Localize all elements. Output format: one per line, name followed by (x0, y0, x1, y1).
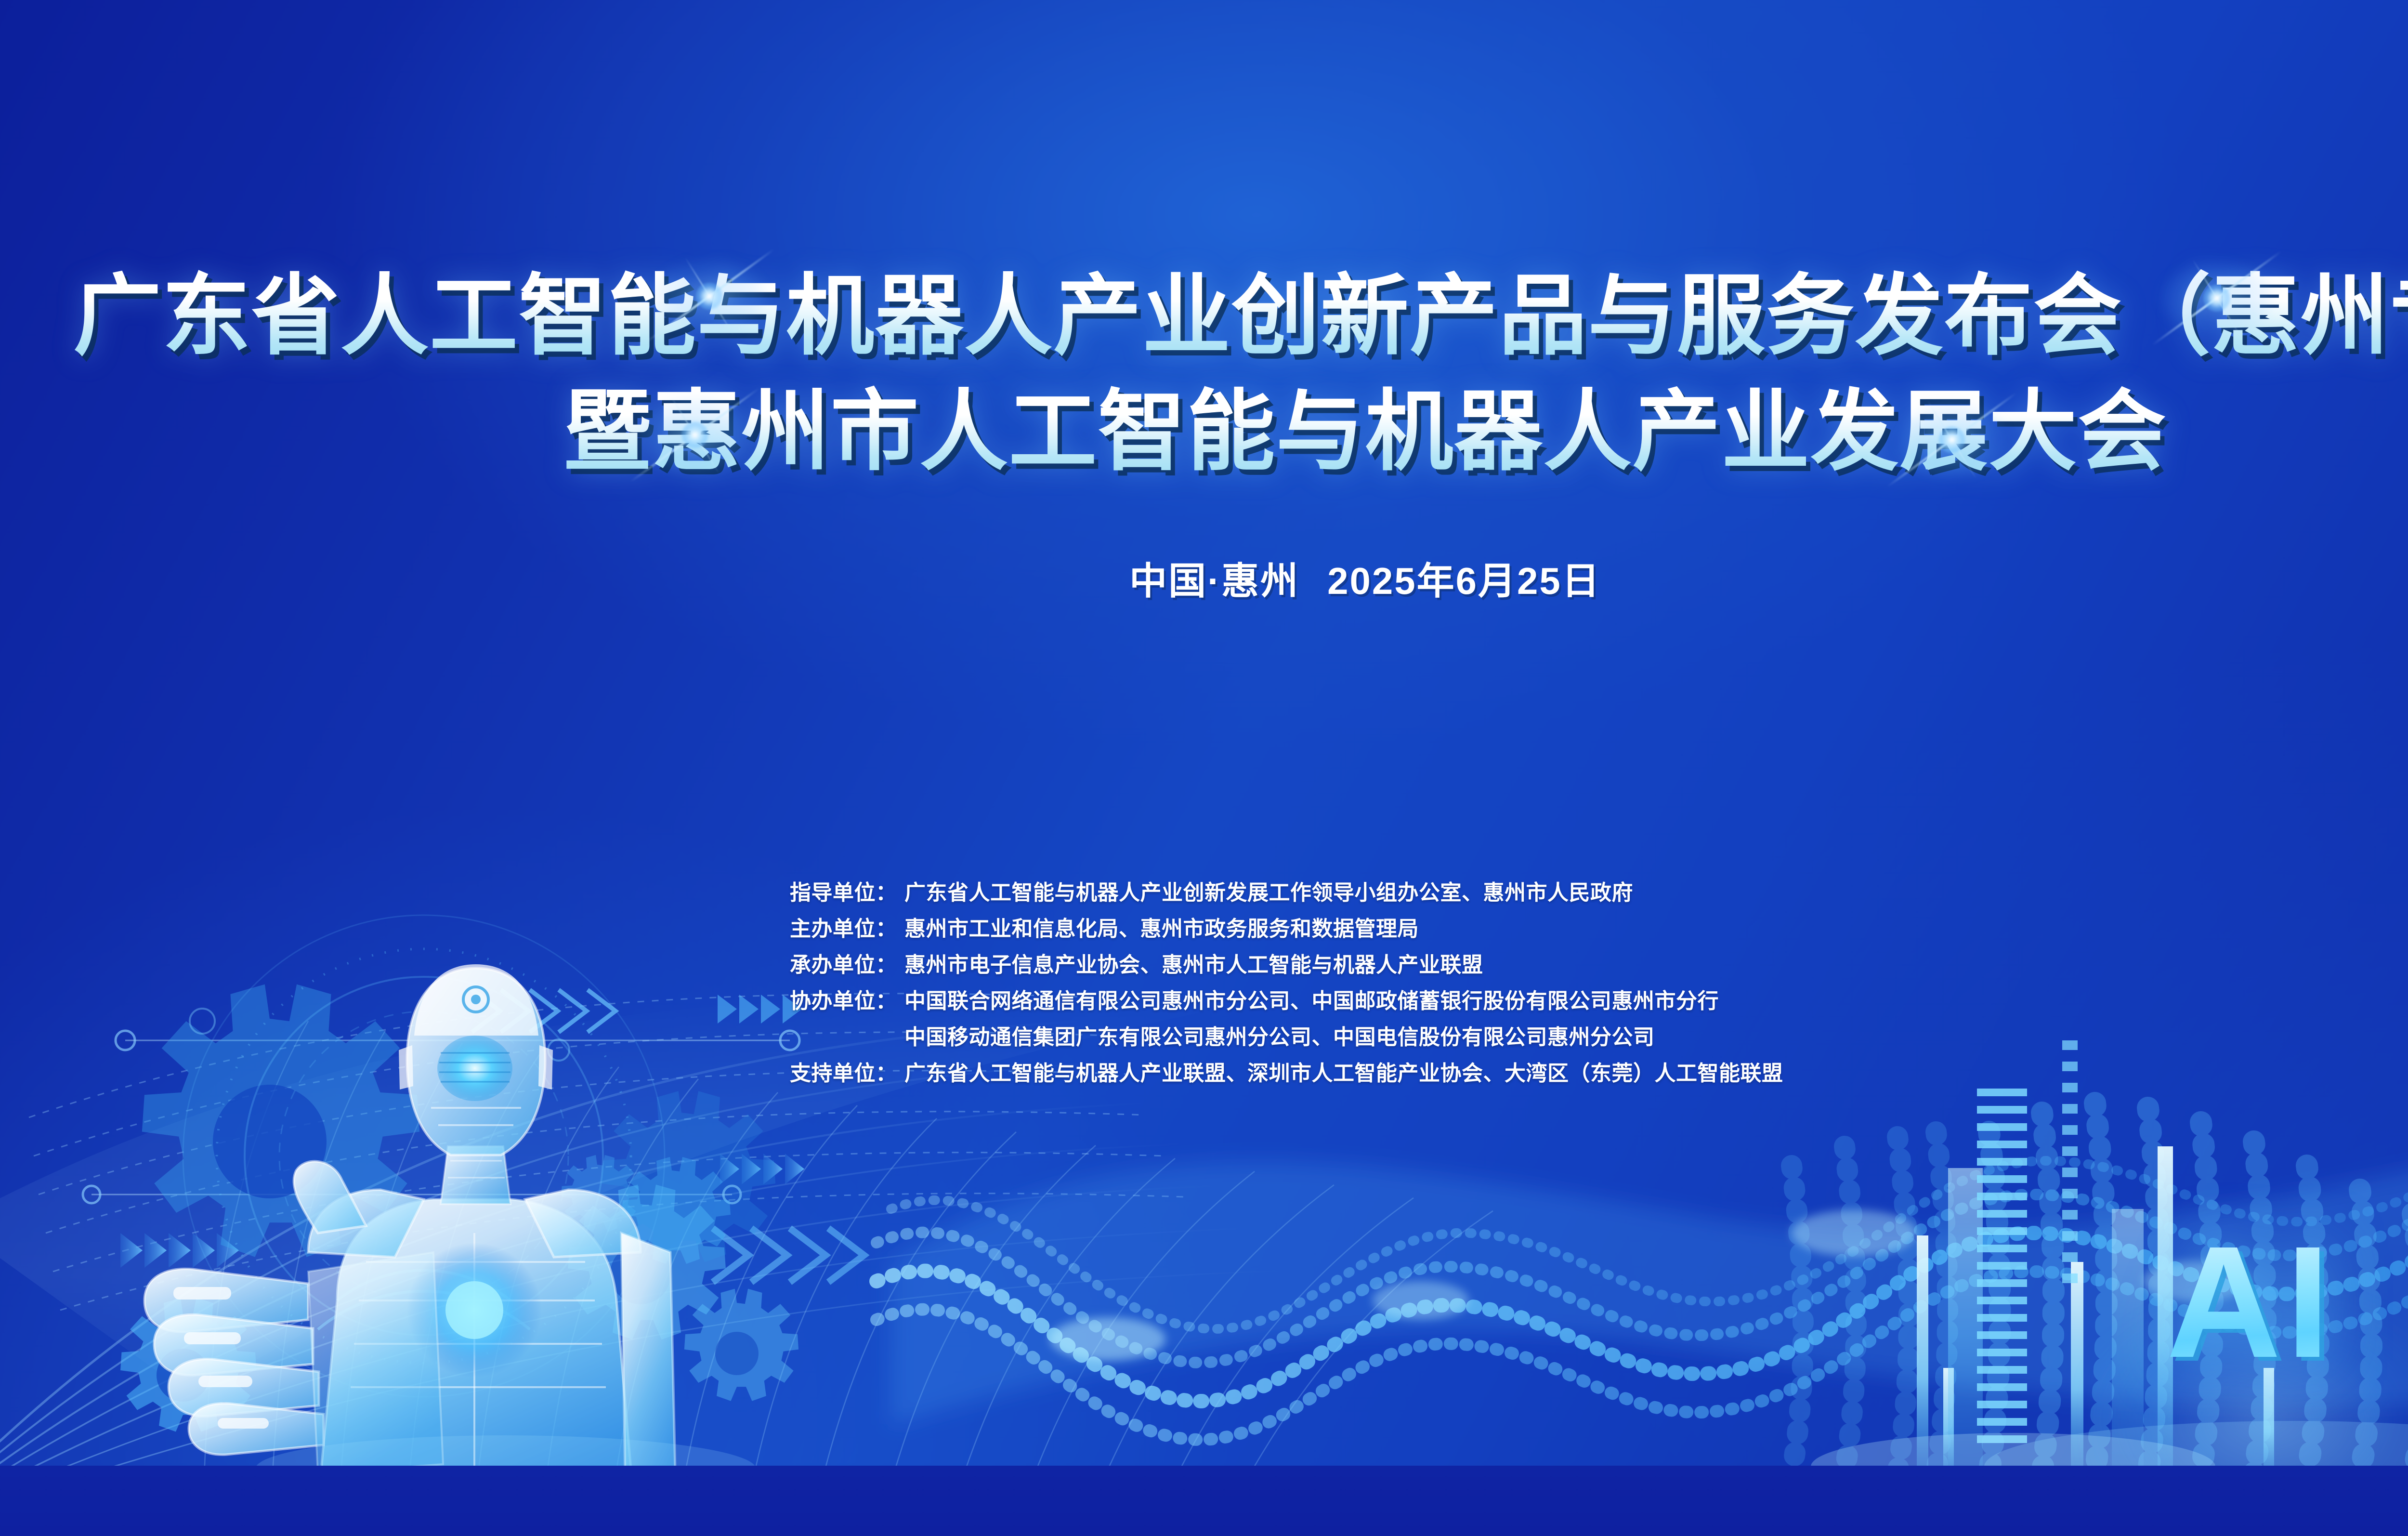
audio-equalizer-bars (0, 0, 2408, 1536)
gear-icons (0, 0, 2408, 1536)
organizer-value: 中国移动通信集团广东有限公司惠州分公司、中国电信股份有限公司惠州分公司 (904, 1027, 1655, 1048)
ai-logo: AI (2166, 1222, 2335, 1381)
organizer-label: 指导单位： (790, 882, 904, 904)
chevron-arrow-clusters (0, 0, 2408, 1536)
event-location-date: 中国·惠州2025年6月25日 (0, 551, 2408, 605)
organizer-label: 承办单位： (790, 955, 904, 976)
event-location: 中国·惠州 (1129, 560, 1299, 602)
organizer-label: 协办单位： (790, 991, 904, 1012)
hud-rings (0, 0, 2408, 1536)
organizer-value: 惠州市电子信息产业协会、惠州市人工智能与机器人产业联盟 (904, 955, 1483, 976)
dotted-sine-wave (0, 0, 2408, 1536)
organizer-row: 指导单位： 广东省人工智能与机器人产业创新发展工作领导小组办公室、惠州市人民政府 (790, 882, 1783, 904)
organizer-value: 广东省人工智能与机器人产业创新发展工作领导小组办公室、惠州市人民政府 (904, 882, 1633, 904)
organizer-value: 中国联合网络通信有限公司惠州市分公司、中国邮政储蓄银行股份有限公司惠州市分行 (904, 991, 1719, 1012)
organizer-list: 指导单位： 广东省人工智能与机器人产业创新发展工作领导小组办公室、惠州市人民政府… (790, 882, 1783, 1099)
bottom-band (0, 1466, 2408, 1536)
title-block: 广东省人工智能与机器人产业创新产品与服务发布会（惠州专场） 暨惠州市人工智能与机… (0, 264, 2408, 484)
organizer-row: 主办单位： 惠州市工业和信息化局、惠州市政务服务和数据管理局 (790, 919, 1783, 940)
curved-mesh-grid (0, 0, 2408, 1536)
humanoid-robot-figure (0, 0, 2408, 1536)
organizer-row: 协办单位： 中国联合网络通信有限公司惠州市分公司、中国邮政储蓄银行股份有限公司惠… (790, 991, 1783, 1012)
conference-banner: 广东省人工智能与机器人产业创新产品与服务发布会（惠州专场） 暨惠州市人工智能与机… (0, 0, 2408, 1536)
organizer-row: 支持单位： 广东省人工智能与机器人产业联盟、深圳市人工智能产业协会、大湾区（东莞… (790, 1063, 1783, 1084)
organizer-label: 主办单位： (790, 919, 904, 940)
organizer-row: 承办单位： 惠州市电子信息产业协会、惠州市人工智能与机器人产业联盟 (790, 955, 1783, 976)
event-date: 2025年6月25日 (1327, 560, 1601, 602)
page-title-line-2: 暨惠州市人工智能与机器人产业发展大会 (0, 380, 2408, 484)
organizer-row-continuation: 协办单位： 中国移动通信集团广东有限公司惠州分公司、中国电信股份有限公司惠州分公… (790, 1027, 1783, 1048)
organizer-value: 惠州市工业和信息化局、惠州市政务服务和数据管理局 (904, 919, 1419, 940)
organizer-label: 支持单位： (790, 1063, 904, 1084)
organizer-value: 广东省人工智能与机器人产业联盟、深圳市人工智能产业协会、大湾区（东莞）人工智能联… (904, 1063, 1783, 1084)
page-title-line-1: 广东省人工智能与机器人产业创新产品与服务发布会（惠州专场） (0, 264, 2408, 368)
